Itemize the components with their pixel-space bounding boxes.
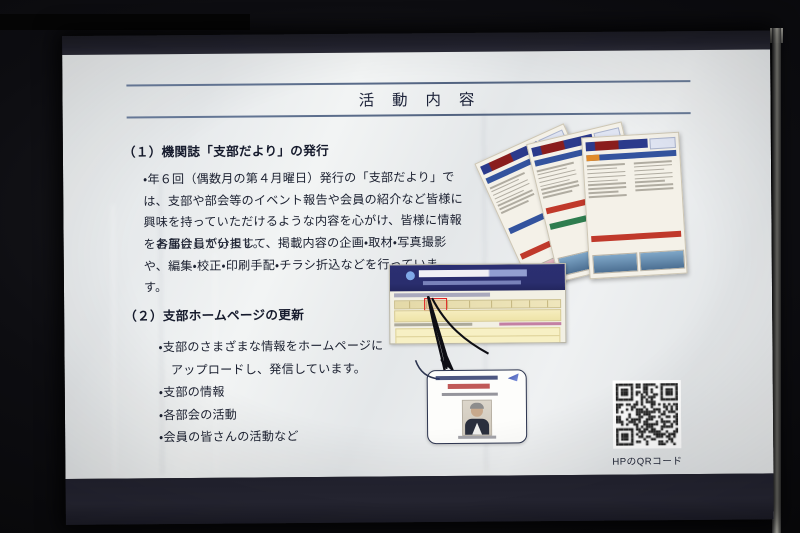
screen-hanging-strap — [772, 28, 781, 533]
id-card-portrait-photo — [462, 400, 492, 436]
website-title-text — [419, 269, 527, 277]
section-1-heading: （１）機関誌「支部だより」の発行 — [123, 140, 329, 161]
list-item: ・支部の情報 — [159, 379, 384, 403]
section-2-bullet-list: ・支部のさまざまな情報をホームページに アップロードし、発信しています。 ・支部… — [158, 334, 384, 448]
id-card-emblem-icon — [508, 373, 519, 381]
website-logo-icon — [406, 271, 415, 280]
section-2-heading: （２）支部ホームページの更新 — [124, 304, 304, 324]
id-card-member-role — [442, 393, 498, 397]
qr-code-caption: HPのQRコード — [603, 453, 691, 468]
qr-code-image — [613, 380, 682, 449]
screen-bottom-band — [65, 473, 773, 525]
screen-valance-bar — [0, 14, 250, 30]
photo-frame: 活 動 内 容 （１）機関誌「支部だより」の発行 ・年６回（偶数月の第４月曜日）… — [0, 0, 800, 533]
page-title: 活 動 内 容 — [62, 85, 770, 113]
qr-code-block: HPのQRコード — [603, 380, 692, 467]
id-card-footer-text — [458, 436, 496, 439]
id-card-org-name — [436, 376, 498, 380]
newsletter-issue-3 — [581, 132, 687, 280]
title-rule-top — [126, 80, 690, 86]
projection-screen: 活 動 内 容 （１）機関誌「支部だより」の発行 ・年６回（偶数月の第４月曜日）… — [62, 30, 774, 525]
list-item: ・各部会の活動 — [159, 402, 384, 426]
newsletter-photos — [499, 120, 690, 281]
member-id-card — [427, 369, 528, 444]
id-card-member-name — [448, 384, 490, 389]
list-item: ・会員の皆さんの活動など — [159, 424, 384, 448]
presentation-slide: 活 動 内 容 （１）機関誌「支部だより」の発行 ・年６回（偶数月の第４月曜日）… — [62, 49, 773, 479]
list-item: ・支部のさまざまな情報をホームページに アップロードし、発信しています。 — [158, 334, 383, 381]
title-rule-bottom — [127, 112, 691, 118]
